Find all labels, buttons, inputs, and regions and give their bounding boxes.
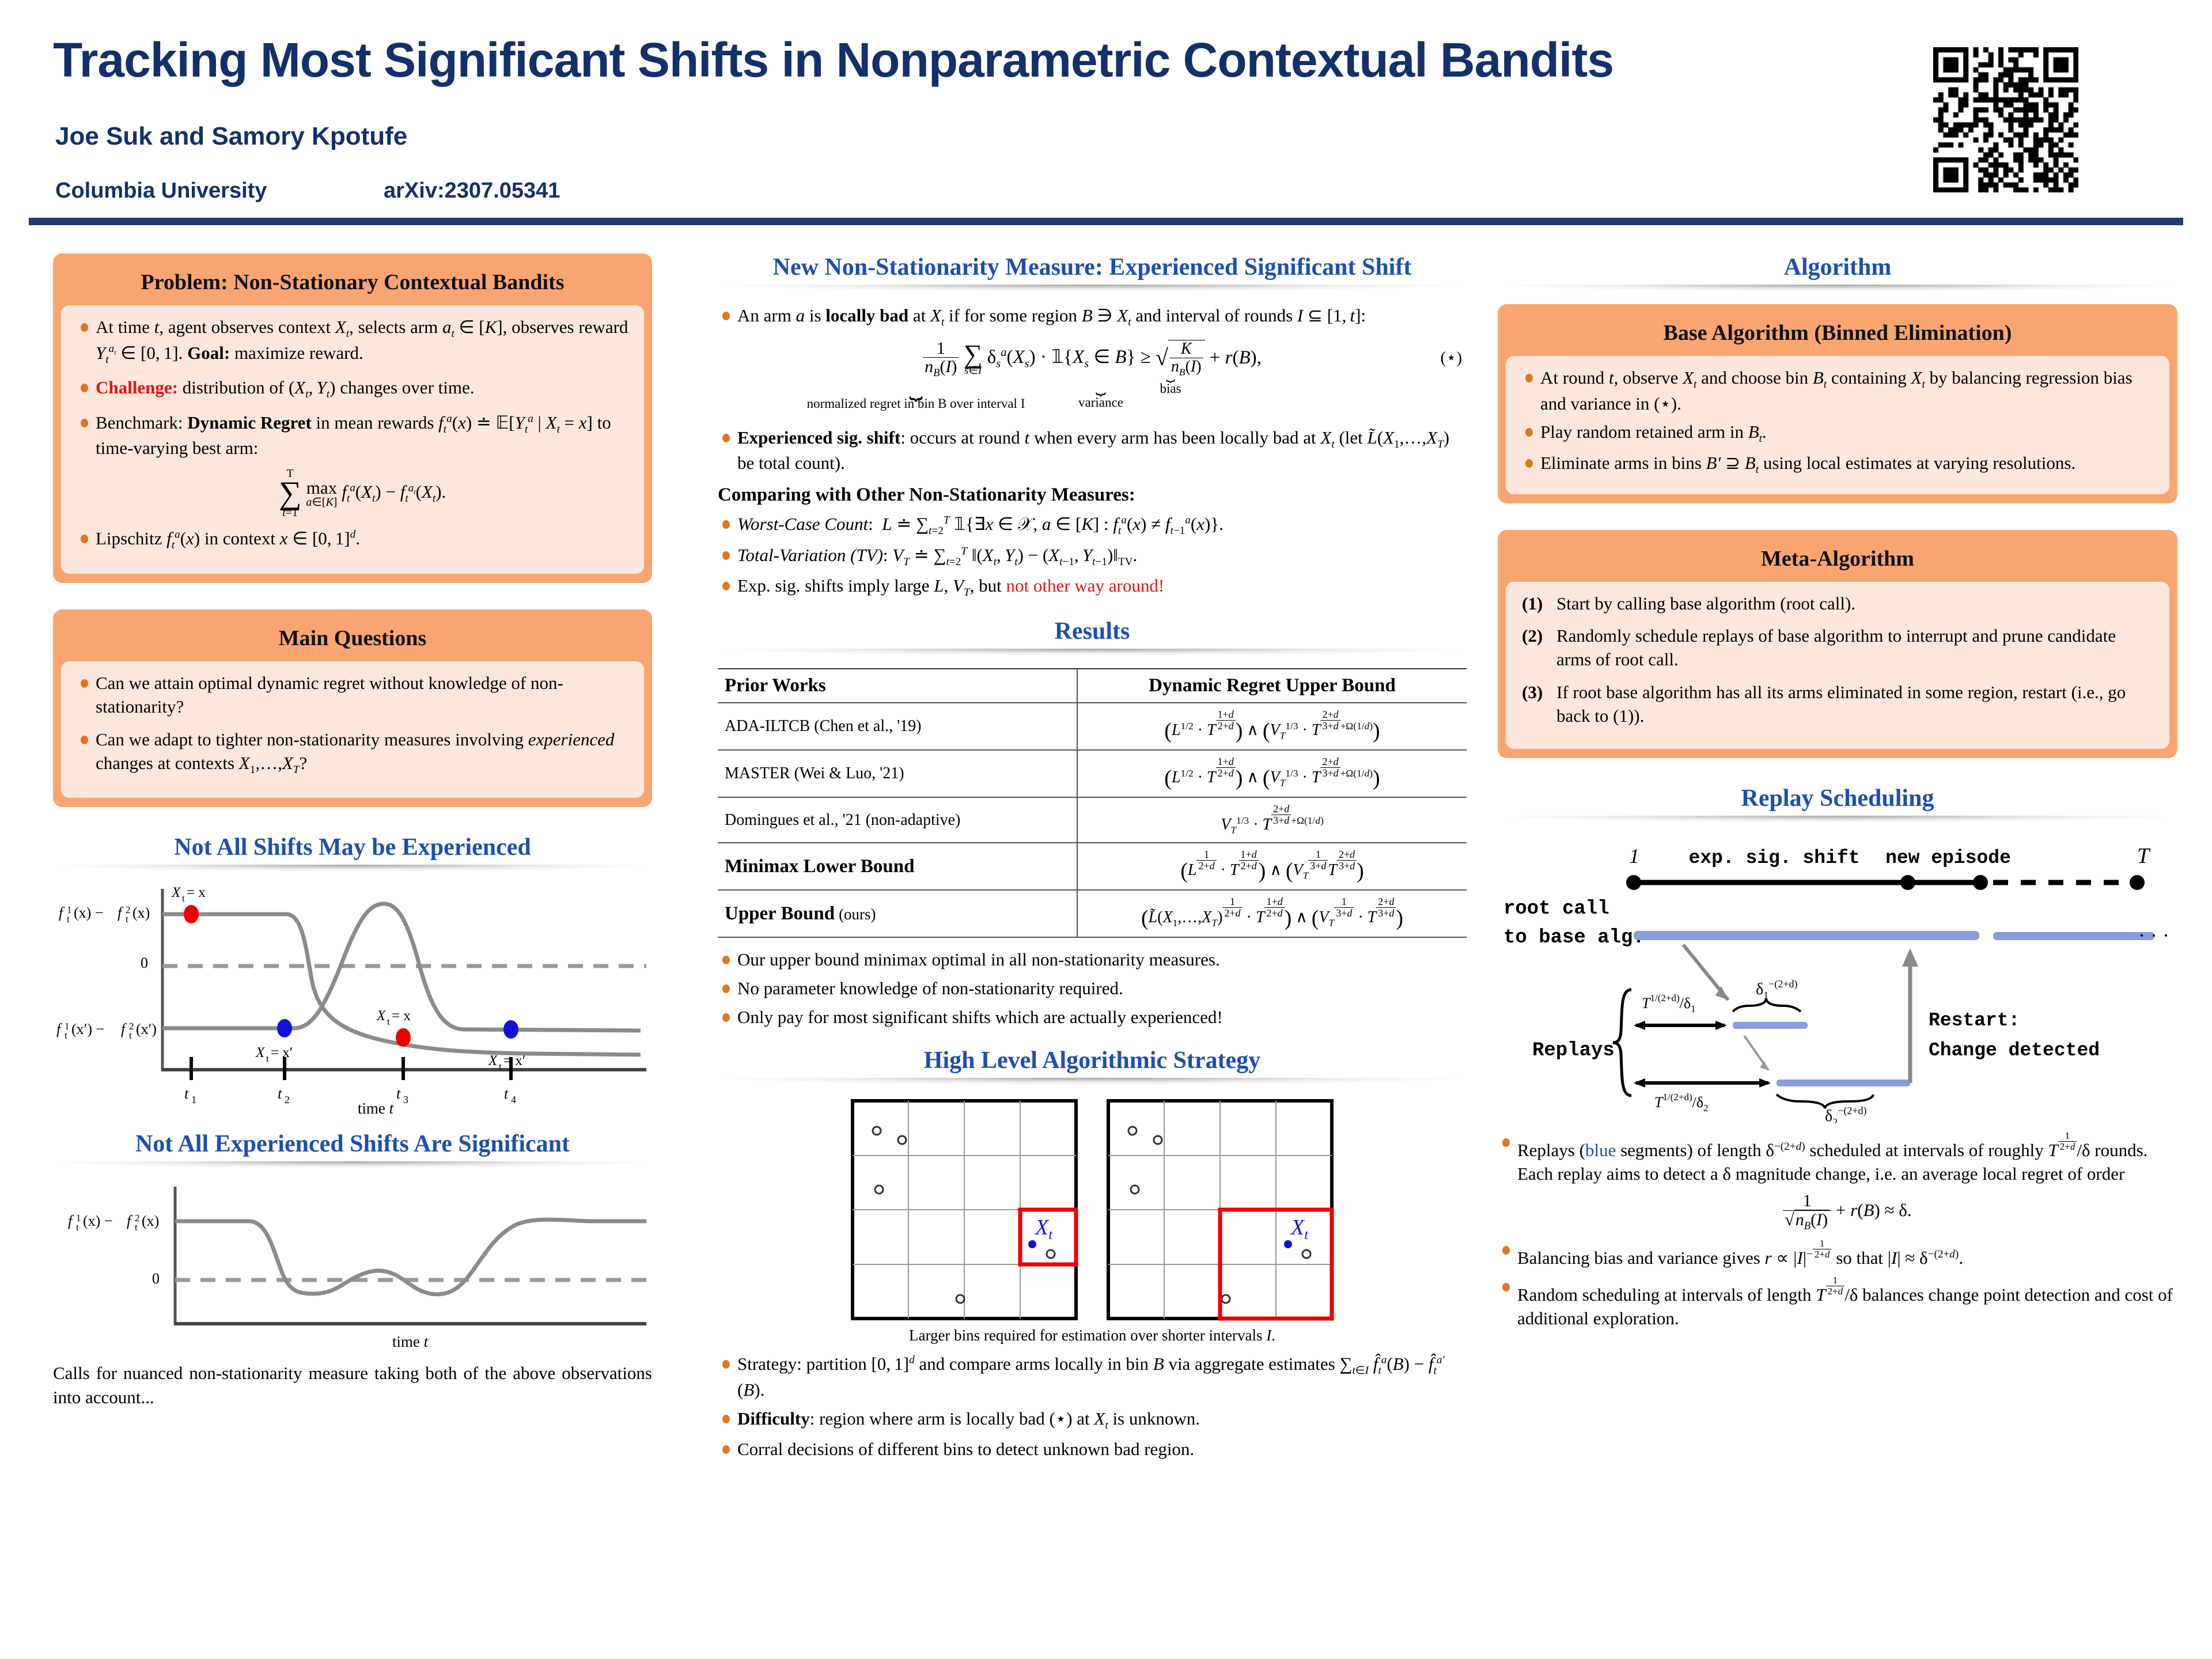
table-row: ADA-ILTCB (Chen et al., '19) (L1/2 · T1+…	[718, 703, 1467, 750]
svg-text:X: X	[488, 1053, 498, 1069]
table-row: Minimax Lower Bound (L12+d · T1+d2+d) ∧ …	[718, 843, 1467, 890]
svg-text:f: f	[127, 1213, 133, 1229]
list-item: At time t, agent observes context Xt, se…	[76, 316, 629, 367]
marker-blue-t2	[277, 1019, 292, 1037]
list-item: (2)Randomly schedule replays of base alg…	[1521, 624, 2154, 672]
page-title: Tracking Most Significant Shifts in Nonp…	[53, 36, 1885, 84]
list-item: Experienced sig. shift: occurs at round …	[718, 426, 1467, 475]
svg-text:t: t	[135, 1222, 138, 1233]
svg-text:f: f	[56, 1021, 63, 1037]
qr-code[interactable]	[1933, 47, 2078, 192]
bin-grid-small: Xt	[849, 1097, 1080, 1322]
right-column: Algorithm Base Algorithm (Binned Elimina…	[1498, 253, 2177, 1336]
table-row: Domingues et al., '21 (non-adaptive) VT1…	[718, 797, 1467, 843]
underbrace-label-regret: normalized regret in bin B over interval…	[786, 396, 1046, 411]
replay2-length-label: δ2−(2+d)	[1825, 1105, 1867, 1123]
table-cell-bound: (L1/2 · T1+d2+d) ∧ (VT1/3 · T2+d3+d+Ω(1/…	[1077, 703, 1467, 750]
affiliation: Columbia University	[55, 179, 267, 203]
list-item: Eliminate arms in bins B′ ⊇ Bt using loc…	[1521, 452, 2154, 478]
table-cell-bound: VT1/3 · T2+d3+d+Ω(1/d)	[1077, 797, 1467, 843]
questions-box-body: Can we attain optimal dynamic regret wit…	[61, 661, 644, 798]
table-cell-name: MASTER (Wei & Luo, '21)	[718, 750, 1077, 797]
svg-text:t: t	[182, 893, 185, 904]
svg-text:(x) −: (x) −	[74, 904, 103, 921]
section-divider	[53, 1161, 652, 1168]
table-cell-bound: (L̃(X1,…,XT)12+d · T1+d2+d) ∧ (VT13+d · …	[1077, 890, 1467, 937]
bin-grid-large: Xt	[1105, 1097, 1335, 1322]
replays-brace	[1613, 990, 1631, 1096]
marker-blue-t4	[503, 1020, 518, 1039]
ellipsis-label: · · ·	[2138, 924, 2169, 947]
meta-algorithm-body: (1)Start by calling base algorithm (root…	[1506, 582, 2169, 749]
replay1-length-label: δ1−(2+d)	[1756, 978, 1798, 1001]
dynamic-regret-equation: T ∑ t=1 max a∈[K] fta(Xt) − ftat(Xt).	[96, 468, 629, 518]
base-algorithm-body: At round t, observe Xt and choose bin Bt…	[1506, 356, 2169, 494]
svg-text:t: t	[76, 1222, 79, 1233]
svg-text:t: t	[126, 914, 128, 925]
table-row: MASTER (Wei & Luo, '21) (L1/2 · T1+d2+d)…	[718, 750, 1467, 797]
step-label: (3)	[1522, 681, 1543, 704]
list-item: Only pay for most significant shifts whi…	[718, 1006, 1467, 1029]
svg-text:f: f	[121, 1021, 127, 1037]
left-column: Problem: Non-Stationary Contextual Bandi…	[53, 253, 652, 1409]
root-call-segment-2	[1993, 932, 2154, 940]
section-divider	[718, 285, 1467, 291]
svg-text:0: 0	[141, 955, 148, 971]
table-cell-name: Minimax Lower Bound	[718, 843, 1077, 890]
svg-text:= x′: = x′	[503, 1053, 525, 1069]
list-item: At round t, observe Xt and choose bin Bt…	[1521, 366, 2154, 415]
section-heading-replay: Replay Scheduling	[1498, 785, 2177, 812]
table-cell-bound: (L1/2 · T1+d2+d) ∧ (VT1/3 · T2+d3+d+Ω(1/…	[1077, 750, 1467, 797]
list-item: Balancing bias and variance gives r ∝ |I…	[1498, 1238, 2177, 1270]
meta-algorithm-box: Meta-Algorithm (1)Start by calling base …	[1498, 530, 2177, 759]
list-item: Benchmark: Dynamic Regret in mean reward…	[76, 411, 629, 518]
list-item: Can we attain optimal dynamic regret wit…	[76, 672, 629, 719]
section-heading-algorithm: Algorithm	[1498, 253, 2177, 281]
emphasis-not-other-way: not other way around!	[1006, 575, 1165, 596]
underbrace-label-bias: bias	[1143, 381, 1198, 396]
questions-box-title: Main Questions	[61, 618, 644, 661]
timeline-start-label: 1	[1629, 844, 1639, 868]
problem-box-title: Problem: Non-Stationary Contextual Bandi…	[61, 262, 644, 305]
list-item: Random scheduling at intervals of length…	[1498, 1275, 2177, 1331]
svg-text:X: X	[255, 1045, 266, 1060]
section-divider	[718, 1078, 1467, 1085]
replay-segment-1	[1733, 1022, 1808, 1029]
table-cell-name: Domingues et al., '21 (non-adaptive)	[718, 797, 1077, 843]
list-item: Lipschitz fta(x) in context x ∈ [0, 1]d.	[76, 527, 629, 553]
poster-header: Tracking Most Significant Shifts in Nonp…	[0, 0, 2212, 228]
list-item: Replays (blue segments) of length δ−(2+d…	[1498, 1131, 2177, 1232]
section-heading-strategy: High Level Algorithmic Strategy	[718, 1047, 1467, 1074]
middle-column: New Non-Stationarity Measure: Experience…	[718, 253, 1467, 1467]
table-header-row: Prior Works Dynamic Regret Upper Bound	[718, 669, 1467, 703]
section-divider	[53, 865, 652, 872]
list-item: Difficulty: region where arm is locally …	[718, 1407, 1467, 1433]
section-heading-new-measure: New Non-Stationarity Measure: Experience…	[718, 253, 1467, 281]
section-divider	[718, 649, 1467, 656]
arxiv-id: arXiv:2307.05341	[384, 179, 560, 203]
svg-text:(x′) −: (x′) −	[71, 1021, 104, 1037]
svg-text:f: f	[68, 1213, 74, 1229]
svg-text:0: 0	[152, 1270, 160, 1287]
svg-text:t: t	[266, 1053, 269, 1064]
header-divider	[29, 218, 2183, 225]
problem-box: Problem: Non-Stationary Contextual Bandi…	[53, 253, 652, 583]
section-divider	[1498, 816, 2177, 823]
svg-text:t: t	[387, 1016, 390, 1027]
section-divider	[1498, 285, 2177, 291]
table-cell-bound: (L12+d · T1+d2+d) ∧ (VT13+dT2+d3+d)	[1077, 843, 1467, 890]
svg-text:1: 1	[191, 1094, 196, 1105]
restart-label-line1: Restart:	[1929, 1010, 2020, 1031]
marker-red-t3	[396, 1028, 411, 1047]
list-item: Corral decisions of different bins to de…	[718, 1438, 1467, 1461]
svg-text:t: t	[129, 1030, 132, 1041]
section-heading-shifts-significant: Not All Experienced Shifts Are Significa…	[53, 1130, 652, 1158]
root-call-segment-1	[1634, 931, 1979, 940]
svg-text:f: f	[118, 904, 124, 921]
meta-algorithm-title: Meta-Algorithm	[1506, 538, 2169, 582]
figure-not-all-shifts-experienced: f 1t (x) − f 2t (x) 0 f 1t (x′) − f 2t (…	[53, 884, 652, 1118]
svg-text:= x: = x	[392, 1008, 411, 1024]
step-label: (1)	[1522, 592, 1543, 616]
step-label: (2)	[1522, 624, 1543, 648]
table-col-header-bound: Dynamic Regret Upper Bound	[1077, 669, 1467, 703]
list-item: Total-Variation (TV): VT ≐ ∑t=2T ‖(Xt, Y…	[718, 544, 1467, 570]
replay1-interval-label: T1/(2+d)/δ1	[1642, 993, 1696, 1014]
replays-label: Replays	[1532, 1040, 1615, 1062]
svg-text:(x′): (x′)	[136, 1021, 157, 1037]
svg-text:t: t	[396, 1085, 401, 1102]
list-item: Our upper bound minimax optimal in all n…	[718, 948, 1467, 972]
list-item: Can we adapt to tighter non-stationarity…	[76, 728, 629, 777]
figure-replay-scheduling: 1 exp. sig. shift new episode T root cal…	[1498, 835, 2177, 1126]
replay2-interval-label: T1/(2+d)/δ2	[1654, 1092, 1709, 1113]
problem-box-body: At time t, agent observes context Xt, se…	[61, 305, 644, 574]
list-item: An arm a is locally bad at Xt if for som…	[718, 304, 1467, 330]
challenge-label: Challenge:	[96, 377, 178, 397]
svg-text:(x) −: (x) −	[83, 1213, 112, 1229]
list-item: Play random retained arm in Bt.	[1521, 421, 2154, 446]
svg-text:2: 2	[285, 1094, 290, 1105]
table-col-header-works: Prior Works	[718, 669, 1077, 703]
table-cell-name: Upper Bound (ours)	[718, 890, 1077, 937]
figure-not-all-shifts-significant: f 1t (x) − f 2t (x) 0 time t	[53, 1181, 652, 1351]
list-item: Strategy: partition [0, 1]d and compare …	[718, 1353, 1467, 1402]
svg-text:t: t	[184, 1085, 189, 1102]
base-algorithm-box: Base Algorithm (Binned Elimination) At r…	[1498, 304, 2177, 503]
svg-text:t: t	[504, 1085, 509, 1102]
table-cell-name: ADA-ILTCB (Chen et al., '19)	[718, 703, 1077, 750]
svg-text:t: t	[499, 1061, 502, 1072]
svg-text:X: X	[376, 1008, 387, 1024]
root-call-label-line1: root call	[1503, 898, 1609, 920]
locally-bad-equation: 1nB(I) ∑ s∈I δsa(Xs) · 𝟙{Xs ∈ B} ≥ √KnB(…	[718, 339, 1467, 411]
svg-text:= x′: = x′	[271, 1045, 293, 1060]
svg-text:(x): (x)	[132, 904, 150, 921]
marker-red-t1	[184, 905, 199, 923]
list-item: (3)If root base algorithm has all its ar…	[1521, 681, 2154, 728]
section-heading-shifts-experienced: Not All Shifts May be Experienced	[53, 834, 652, 861]
list-item: Exp. sig. shifts imply large L, VT, but …	[718, 574, 1467, 600]
base-algorithm-title: Base Algorithm (Binned Elimination)	[1506, 312, 2169, 356]
figure-bins-caption: Larger bins required for estimation over…	[718, 1327, 1467, 1344]
svg-text:X: X	[171, 885, 181, 900]
timeline-end-label: T	[2137, 844, 2151, 868]
list-item: Worst-Case Count: L ≐ ∑t=2T 𝟙{∃x ∈ 𝒳, a …	[718, 513, 1467, 539]
svg-text:t: t	[65, 1030, 67, 1041]
section-heading-results: Results	[718, 618, 1467, 645]
table-row: Upper Bound (ours) (L̃(X1,…,XT)12+d · T1…	[718, 890, 1467, 937]
underbrace-label-variance: variance	[1063, 395, 1138, 410]
timeline-episode-label: new episode	[1885, 847, 2011, 869]
svg-text:t: t	[67, 914, 70, 925]
svg-text:time t: time t	[392, 1333, 429, 1348]
author-list: Joe Suk and Samory Kpotufe	[55, 122, 407, 151]
list-item: (1)Start by calling base algorithm (root…	[1521, 592, 2154, 616]
equation-tag: (⋆)	[1441, 347, 1462, 368]
svg-text:t: t	[278, 1085, 282, 1102]
results-table: Prior Works Dynamic Regret Upper Bound A…	[718, 668, 1467, 938]
timeline-shift-label: exp. sig. shift	[1688, 847, 1859, 869]
list-item: Challenge: distribution of (Xt, Yt) chan…	[76, 376, 629, 402]
figure-bins: Xt Xt	[718, 1097, 1467, 1322]
svg-text:= x: = x	[187, 885, 206, 900]
replay-segment-2	[1777, 1080, 1910, 1086]
list-item: No parameter knowledge of non-stationari…	[718, 977, 1467, 1001]
svg-text:(x): (x)	[142, 1213, 159, 1229]
restart-label-line2: Change detected	[1929, 1040, 2100, 1061]
root-call-label-line2: to base alg.	[1503, 927, 1645, 949]
svg-text:3: 3	[403, 1094, 408, 1105]
svg-text:4: 4	[511, 1094, 516, 1105]
replay-regret-equation: 1√nB(I) + r(B) ≈ δ.	[1517, 1192, 2177, 1232]
closing-note: Calls for nuanced non-stationarity measu…	[53, 1361, 652, 1409]
compare-heading: Comparing with Other Non-Stationarity Me…	[718, 484, 1467, 506]
questions-box: Main Questions Can we attain optimal dyn…	[53, 609, 652, 807]
svg-text:f: f	[59, 904, 65, 921]
svg-text:time t: time t	[358, 1100, 395, 1115]
